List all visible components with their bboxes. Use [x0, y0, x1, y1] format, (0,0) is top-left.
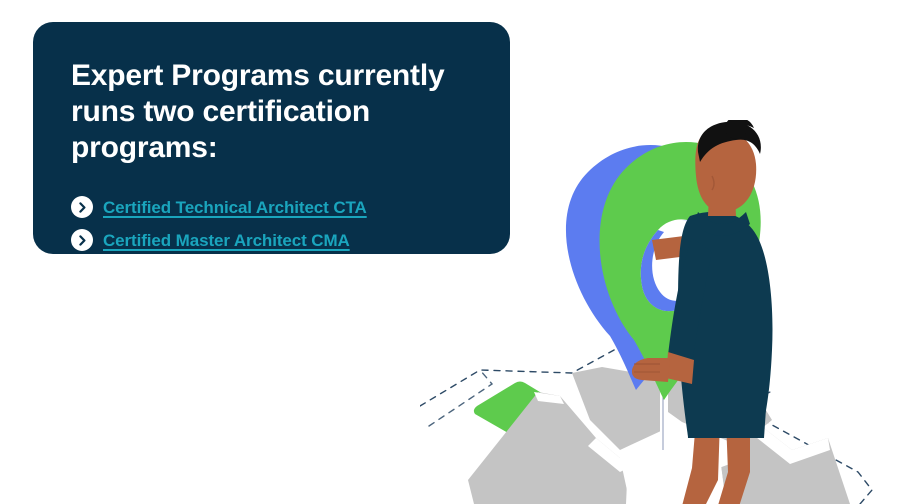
chevron-right-circle-icon [71, 196, 93, 218]
woman-figure [632, 120, 773, 504]
info-card: Expert Programs currently runs two certi… [33, 22, 510, 254]
list-item[interactable]: Certified Technical Architect CTA [71, 196, 472, 218]
location-pin [566, 142, 761, 400]
green-diamond-tile [474, 382, 566, 439]
list-item[interactable]: Certified Master Architect CMA [71, 229, 472, 251]
link-certified-technical-architect[interactable]: Certified Technical Architect CTA [103, 197, 367, 218]
chevron-right-circle-icon [71, 229, 93, 251]
mountain-range [468, 367, 850, 504]
dashed-isometric-platform [420, 344, 872, 504]
link-certified-master-architect[interactable]: Certified Master Architect CMA [103, 230, 350, 251]
page-canvas: Expert Programs currently runs two certi… [0, 0, 907, 504]
certification-link-list: Certified Technical Architect CTA Certif… [71, 196, 472, 251]
page-title: Expert Programs currently runs two certi… [71, 58, 471, 166]
